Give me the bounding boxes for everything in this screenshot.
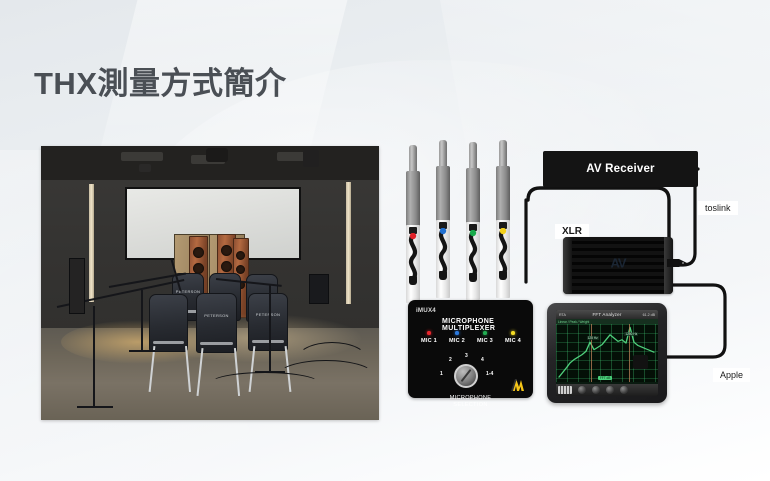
chair-label: PETERSON (197, 313, 236, 318)
tablet-screen[interactable]: RTA FFT Analyzer 61.2 dB Linear / Peak /… (556, 310, 658, 396)
mic-4-label: MIC 4 (499, 338, 527, 344)
av-brand-logo-icon (510, 378, 527, 393)
toslink-plug-icon (667, 257, 689, 269)
mic-selection-caption-line2: SELECTION (408, 402, 533, 409)
fft-axis-tag: FFT dB (598, 376, 613, 380)
selector-position-3: 3 (465, 353, 468, 359)
mic-3-label: MIC 3 (471, 338, 499, 344)
mux-mic-indicators: MIC 1 MIC 2 MIC 3 MIC 4 (415, 331, 527, 344)
fft-app-title: FFT Analyzer (592, 312, 621, 317)
toslink-label: toslink (698, 201, 738, 215)
fft-status-left: RTA (559, 313, 566, 317)
fft-response-curve (556, 324, 658, 382)
apple-label: Apple (713, 368, 750, 382)
mic-selection-control[interactable]: 1 2 3 4 1-4 (440, 355, 500, 395)
mux-mic-channel-3: MIC 3 (471, 331, 499, 344)
fft-marker-1: 125 Hz (587, 336, 599, 340)
xlr-color-ring-red (410, 233, 416, 239)
mic-3-led-icon (483, 331, 487, 335)
mux-mic-channel-1: MIC 1 (415, 331, 443, 344)
mic-cable-3 (464, 230, 482, 278)
mic-cable-4 (494, 228, 512, 276)
fft-sub-label: Linear / Peak / Weight (558, 320, 589, 324)
fft-plot-area (556, 324, 658, 382)
presentation-slide: THX測量方式簡介 (0, 0, 770, 481)
fft-status-right: 61.2 dB (643, 313, 655, 317)
fft-titlebar: RTA FFT Analyzer 61.2 dB (556, 310, 658, 319)
mic-cable-2 (434, 228, 452, 276)
mic-selection-caption-line1: MICROPHONE (408, 395, 533, 402)
fft-knob-1[interactable] (578, 386, 586, 394)
av-receiver-label: AV Receiver (586, 163, 654, 175)
audio-interface-device[interactable]: AV (563, 237, 673, 294)
fft-control-bar[interactable] (556, 384, 658, 396)
selector-position-2: 2 (449, 357, 452, 363)
fft-marker-2: 1250 Hz (624, 332, 638, 336)
fft-knob-3[interactable] (606, 386, 614, 394)
mux-mic-channel-4: MIC 4 (499, 331, 527, 344)
xlr-color-ring-yellow (500, 228, 506, 234)
mic-4-led-icon (511, 331, 515, 335)
mic-2-led-icon (455, 331, 459, 335)
mux-model-label: iMUX4 (416, 307, 436, 314)
mux-mic-channel-2: MIC 2 (443, 331, 471, 344)
fft-cursor-1[interactable] (591, 324, 592, 382)
fft-knob-2[interactable] (592, 386, 600, 394)
screening-room-photo: PETERSON PETERSON PETERSON (41, 146, 379, 420)
av-receiver-box[interactable]: AV Receiver (543, 151, 698, 187)
fft-knob-4[interactable] (620, 386, 628, 394)
mic-cable-1 (404, 233, 422, 281)
selector-position-4: 4 (481, 357, 484, 363)
mux-title-label: MICROPHONE MULTIPLEXER (442, 318, 533, 332)
tablet-device[interactable]: RTA FFT Analyzer 61.2 dB Linear / Peak /… (547, 303, 667, 403)
interface-logo: AV (610, 256, 625, 271)
mic-2-label: MIC 2 (443, 338, 471, 344)
rotary-selector-knob[interactable] (454, 364, 478, 388)
microphone-multiplexer-device[interactable]: iMUX4 MICROPHONE MULTIPLEXER MIC 1 MIC 2… (408, 300, 533, 398)
measurement-signal-chain-diagram: AV Receiver toslink XLR Apple AV RTA FFT… (395, 140, 770, 430)
mic-1-label: MIC 1 (415, 338, 443, 344)
apple-dock-connector (633, 355, 648, 369)
chair-label: PETERSON (249, 312, 287, 317)
mic-selection-caption: MICROPHONE SELECTION (408, 395, 533, 409)
xlr-color-ring-blue (440, 228, 446, 234)
knob-pointer-icon (461, 369, 472, 382)
page-title: THX測量方式簡介 (34, 58, 287, 103)
mic-1-led-icon (427, 331, 431, 335)
fft-keypad-icon[interactable] (558, 386, 572, 394)
selector-position-1-4: 1-4 (486, 371, 493, 377)
selector-position-1: 1 (440, 371, 443, 377)
xlr-color-ring-green (470, 230, 476, 236)
